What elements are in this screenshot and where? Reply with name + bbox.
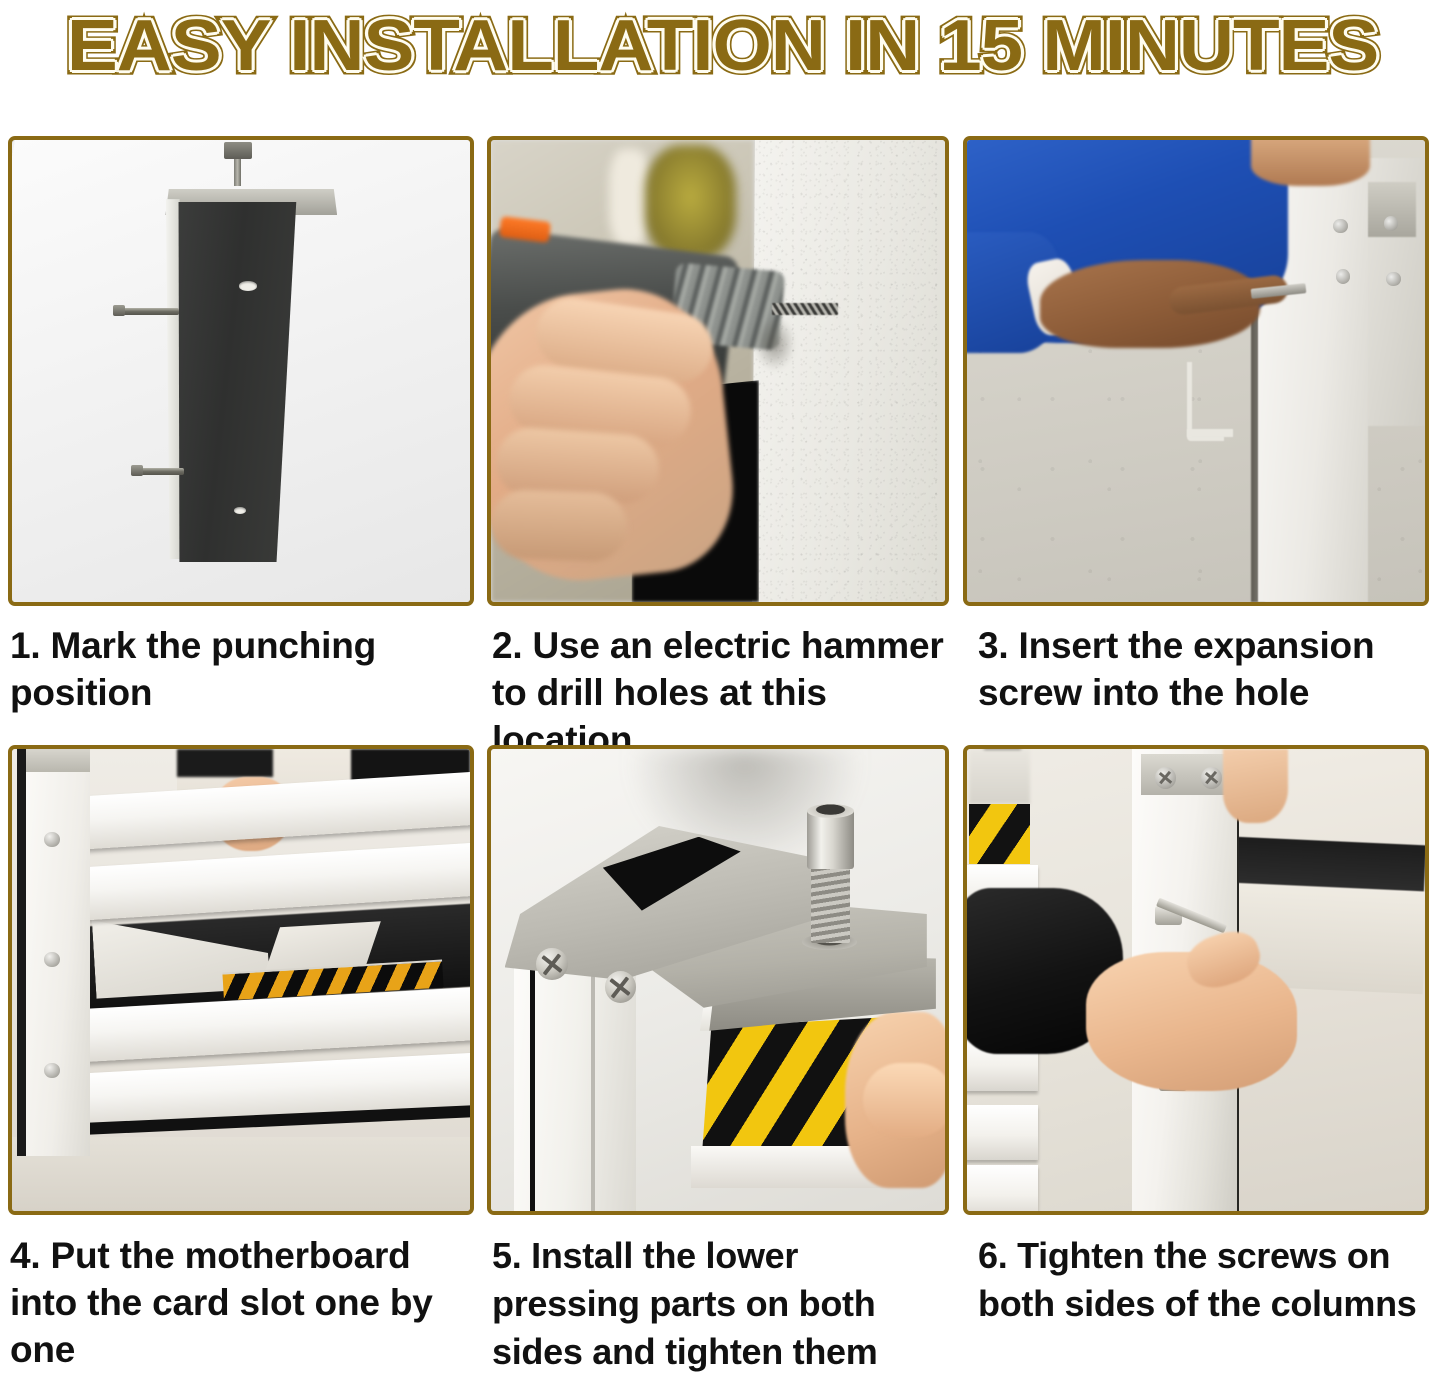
mark-punching-position-photo (8, 136, 474, 606)
second-hand (1223, 749, 1287, 823)
dark-background-left (177, 749, 273, 777)
step-caption-3: 3. Insert the expansion screw into the h… (978, 622, 1438, 716)
phillips-screw-1 (536, 948, 568, 980)
background-object-light (609, 149, 650, 246)
board-top-edge (969, 749, 1030, 804)
textured-white-wall (752, 140, 945, 602)
drill-bit (772, 303, 838, 315)
protruding-bolt-upper (115, 308, 179, 315)
column-light-groove (591, 952, 595, 1211)
finger (863, 1063, 945, 1137)
column-body (168, 202, 299, 562)
install-boards-photo (8, 745, 474, 1215)
column-dark-groove (530, 952, 535, 1211)
barrier-board-3 (967, 1105, 1038, 1160)
bolt-head-upper (113, 305, 125, 316)
hex-socket-bolt (807, 809, 855, 869)
dark-skirting (1232, 837, 1425, 892)
step-caption-6: 6. Tighten the screws on both sides of t… (978, 1232, 1438, 1328)
mounting-hole-upper (239, 281, 257, 291)
finger-4 (491, 489, 628, 563)
plate-screw-2 (1201, 767, 1222, 788)
lower-pressing-parts-photo (487, 745, 949, 1215)
insert-expansion-screw-photo (963, 136, 1429, 606)
background-object-yellow (645, 145, 736, 261)
column-top-bracket (26, 749, 90, 772)
plate-screw-1 (1155, 767, 1176, 788)
step-caption-1: 1. Mark the punching position (10, 622, 480, 716)
hazard-stripe-tape (969, 804, 1030, 864)
step-card-1 (8, 136, 474, 606)
column-screw-3 (44, 1063, 60, 1078)
step-card-5 (487, 745, 949, 1215)
step-caption-2: 2. Use an electric hammer to drill holes… (492, 622, 944, 763)
upper-arm (1251, 140, 1370, 186)
step-card-4 (8, 745, 474, 1215)
steps-grid: 1. Mark the punching position (0, 0, 1445, 1352)
drill-holes-photo (487, 136, 949, 606)
rod-nut (224, 142, 251, 159)
bolt-head-lower (131, 465, 143, 476)
barrier-board-4 (967, 1165, 1038, 1211)
step-card-3 (963, 136, 1429, 606)
drill-dust (754, 316, 795, 371)
step-card-2 (487, 136, 949, 606)
column-screw-1 (44, 832, 60, 847)
tighten-screws-photo (963, 745, 1429, 1215)
bolt-thread (811, 865, 850, 944)
plate-screw-4 (1386, 272, 1401, 287)
step-card-6 (963, 745, 1429, 1215)
hex-key-handle (1187, 429, 1233, 437)
left-column-card-slot (26, 749, 90, 1156)
phillips-screw-2 (605, 971, 637, 1003)
column-screw-2 (44, 952, 60, 967)
step-caption-5: 5. Install the lower pressing parts on b… (492, 1232, 947, 1376)
